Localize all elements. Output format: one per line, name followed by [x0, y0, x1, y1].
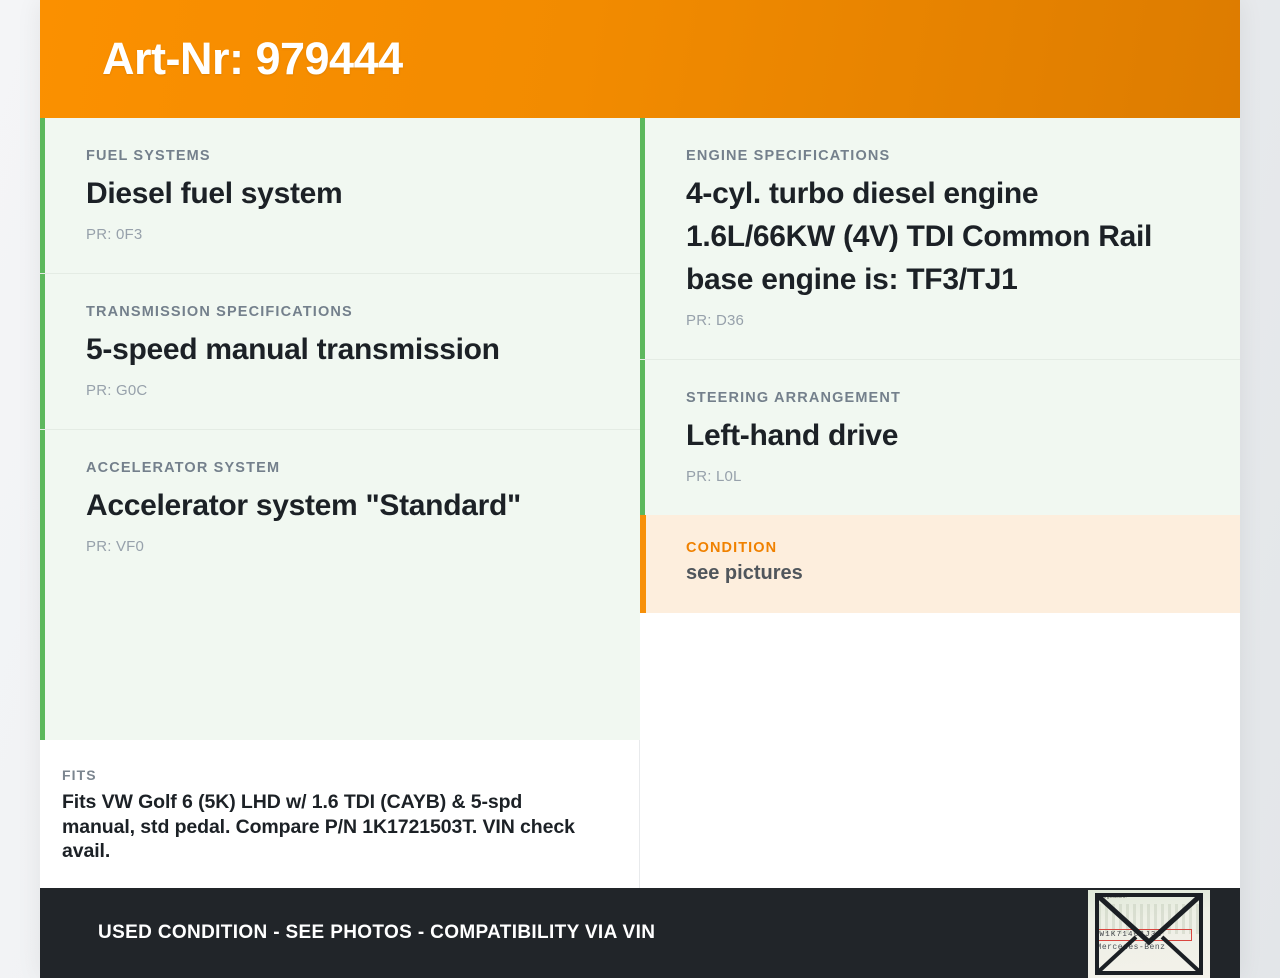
- spec-block-steering-arrangement: STEERING ARRANGEMENT Left-hand drive PR:…: [640, 360, 1240, 515]
- card-header: Art-Nr: 979444: [40, 0, 1240, 118]
- left-column: FUEL SYSTEMS Diesel fuel system PR: 0F3 …: [40, 118, 640, 888]
- product-spec-card: Art-Nr: 979444 FUEL SYSTEMS Diesel fuel …: [40, 0, 1240, 978]
- spec-label: ACCELERATOR SYSTEM: [86, 460, 594, 476]
- spec-block-fuel-systems: FUEL SYSTEMS Diesel fuel system PR: 0F3: [40, 118, 640, 274]
- spec-block-engine-specifications: ENGINE SPECIFICATIONS 4-cyl. turbo diese…: [640, 118, 1240, 360]
- spec-block-transmission-specifications: TRANSMISSION SPECIFICATIONS 5-speed manu…: [40, 274, 640, 430]
- condition-block: CONDITION see pictures: [640, 515, 1240, 613]
- right-column: ENGINE SPECIFICATIONS 4-cyl. turbo diese…: [640, 118, 1240, 888]
- page-title: Art-Nr: 979444: [40, 33, 403, 85]
- condition-label: CONDITION: [686, 540, 1194, 556]
- spec-label: STEERING ARRANGEMENT: [686, 390, 1194, 406]
- vin-document-thumbnail[interactable]: Fahrgestellnr. W1K71463J31 Mercedes-Benz: [1088, 890, 1210, 978]
- envelope-icon: [1088, 890, 1210, 978]
- fits-value: Fits VW Golf 6 (5K) LHD w/ 1.6 TDI (CAYB…: [62, 790, 593, 864]
- spec-block-accelerator-system: ACCELERATOR SYSTEM Accelerator system "S…: [40, 430, 640, 585]
- spec-value: Accelerator system "Standard": [86, 485, 594, 528]
- spec-pr-code: PR: D36: [686, 312, 1194, 329]
- spec-value: Diesel fuel system: [86, 173, 594, 216]
- spec-value: 4-cyl. turbo diesel engine 1.6L/66KW (4V…: [686, 173, 1194, 302]
- spec-label: FUEL SYSTEMS: [86, 148, 594, 164]
- fits-label: FITS: [62, 767, 593, 783]
- footer-notice: USED CONDITION - SEE PHOTOS - COMPATIBIL…: [40, 922, 655, 944]
- spec-label: ENGINE SPECIFICATIONS: [686, 148, 1194, 164]
- right-column-filler: [640, 613, 1240, 888]
- spec-pr-code: PR: VF0: [86, 538, 594, 555]
- card-footer: USED CONDITION - SEE PHOTOS - COMPATIBIL…: [40, 888, 1240, 978]
- spec-pr-code: PR: L0L: [686, 468, 1194, 485]
- spec-columns: FUEL SYSTEMS Diesel fuel system PR: 0F3 …: [40, 118, 1240, 888]
- spec-pr-code: PR: 0F3: [86, 226, 594, 243]
- condition-value: see pictures: [686, 562, 1194, 585]
- spec-pr-code: PR: G0C: [86, 382, 594, 399]
- spec-value: Left-hand drive: [686, 415, 1194, 458]
- spec-value: 5-speed manual transmission: [86, 329, 594, 372]
- fits-section: FITS Fits VW Golf 6 (5K) LHD w/ 1.6 TDI …: [40, 740, 640, 888]
- left-column-filler: [40, 585, 640, 740]
- spec-label: TRANSMISSION SPECIFICATIONS: [86, 304, 594, 320]
